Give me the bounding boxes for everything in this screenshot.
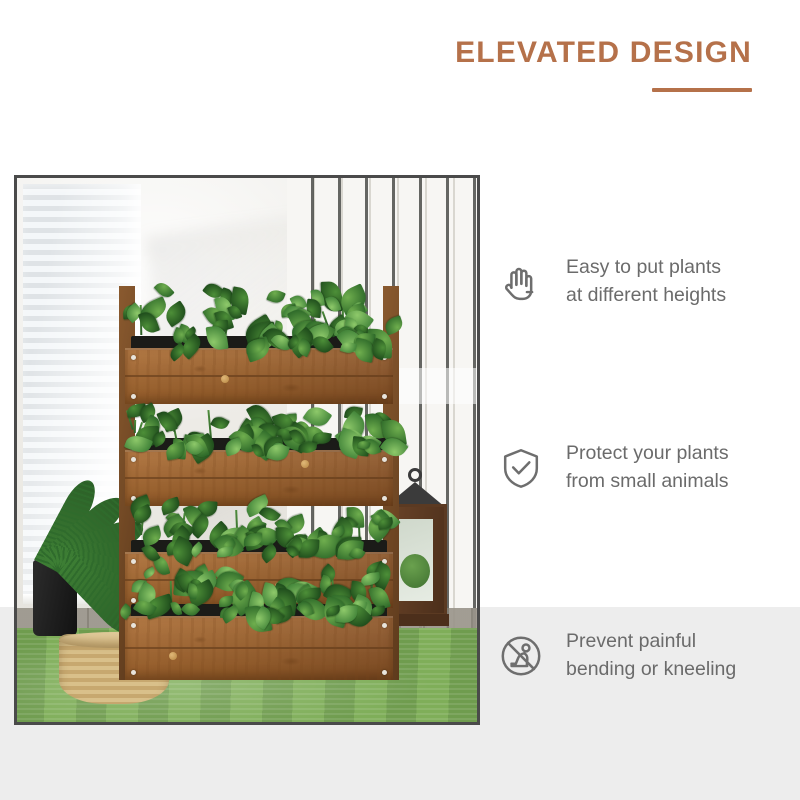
planter-tier-1 xyxy=(125,348,393,404)
planter-box-1 xyxy=(125,348,393,404)
planter-box-4 xyxy=(125,616,393,680)
elevated-garden-planter xyxy=(125,286,393,680)
shield-check-icon xyxy=(498,445,544,491)
lantern-inner-plant xyxy=(400,554,430,588)
product-feature-infographic: ELEVATED DESIGN xyxy=(0,0,800,800)
feature-text-2: Protect your plants from small animals xyxy=(566,440,729,495)
feature-item-2: Protect your plants from small animals xyxy=(498,440,729,495)
no-kneeling-icon xyxy=(498,633,544,679)
lantern-handle-ring xyxy=(408,468,422,482)
feature-item-1: Easy to put plants at different heights xyxy=(498,254,726,309)
feature-text-1: Easy to put plants at different heights xyxy=(566,254,726,309)
planter-box-2 xyxy=(125,450,393,506)
planter-box-3 xyxy=(125,552,393,608)
gardening-glove-icon xyxy=(498,259,544,305)
feature-text-3: Prevent painful bending or kneeling xyxy=(566,628,736,683)
planter-tier-3 xyxy=(125,552,393,608)
product-photo-scene xyxy=(17,178,477,722)
planter-tier-2 xyxy=(125,450,393,506)
page-title: ELEVATED DESIGN xyxy=(455,38,752,68)
product-photo xyxy=(14,175,480,725)
title-block: ELEVATED DESIGN xyxy=(455,38,752,92)
planter-tier-4 xyxy=(125,616,393,680)
feature-item-3: Prevent painful bending or kneeling xyxy=(498,628,736,683)
title-underline-accent xyxy=(652,88,752,92)
